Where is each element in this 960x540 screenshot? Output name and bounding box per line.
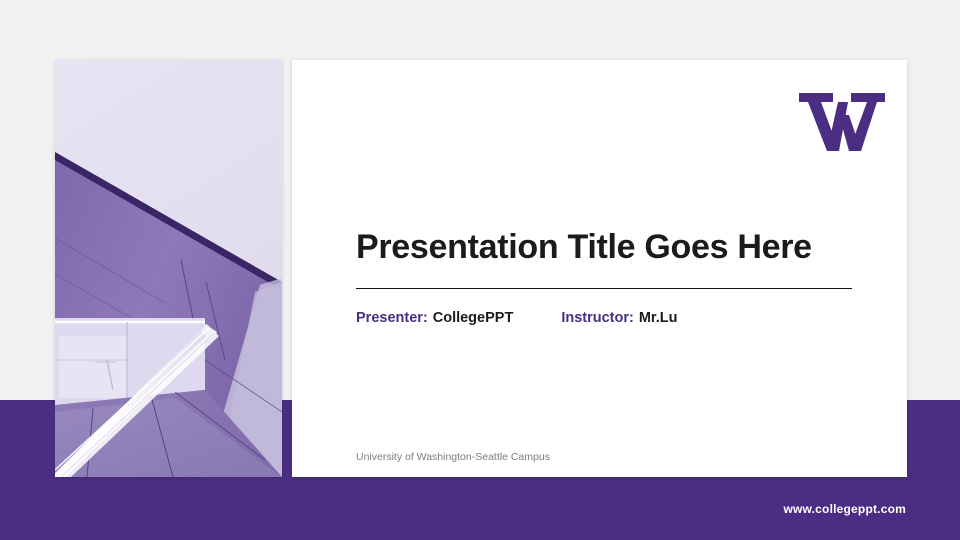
instructor-label: Instructor: bbox=[561, 310, 634, 326]
title-divider bbox=[356, 288, 852, 289]
architecture-photo bbox=[55, 60, 282, 477]
instructor-value: Mr.Lu bbox=[639, 310, 678, 326]
site-url: www.collegeppt.com bbox=[783, 502, 906, 516]
uw-w-logo bbox=[798, 92, 886, 152]
presenter-item: Presenter: CollegePPT bbox=[356, 310, 513, 326]
page-title: Presentation Title Goes Here bbox=[356, 229, 856, 266]
institution-footer: University of Washington-Seattle Campus bbox=[356, 451, 550, 463]
slide-canvas: Presentation Title Goes Here Presenter: … bbox=[0, 0, 960, 540]
instructor-item: Instructor: Mr.Lu bbox=[561, 310, 677, 326]
presentation-meta: Presenter: CollegePPT Instructor: Mr.Lu bbox=[356, 310, 856, 326]
presenter-value: CollegePPT bbox=[433, 310, 514, 326]
presenter-label: Presenter: bbox=[356, 310, 428, 326]
